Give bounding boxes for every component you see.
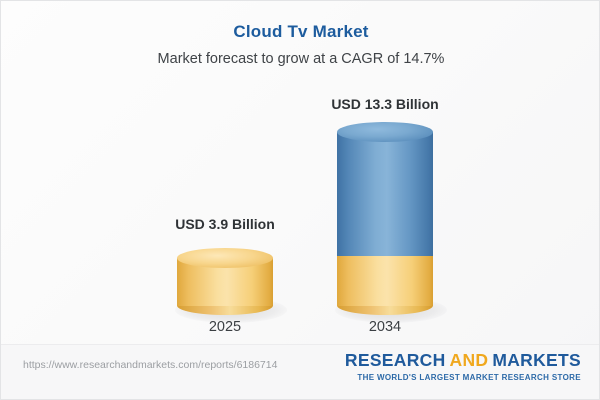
category-label-2034: 2034 <box>305 319 465 335</box>
logo-word-research: RESEARCH <box>345 350 446 370</box>
logo-wordmark: RESEARCHANDMARKETS <box>345 350 581 371</box>
value-label-2025: USD 3.9 Billion <box>127 216 323 232</box>
bar-2034-top-cap <box>337 122 433 142</box>
value-label-2034: USD 13.3 Billion <box>287 96 483 112</box>
logo-word-markets: MARKETS <box>492 350 581 370</box>
chart-subtitle: Market forecast to grow at a CAGR of 14.… <box>1 51 600 67</box>
bar-2034-body <box>337 132 433 256</box>
source-url[interactable]: https://www.researchandmarkets.com/repor… <box>23 359 277 371</box>
chart-title: Cloud Tv Market <box>1 22 600 42</box>
bar-2034-base-segment <box>337 256 433 306</box>
chart-canvas: Cloud Tv Market Market forecast to grow … <box>0 0 600 400</box>
logo-word-and: AND <box>446 350 493 370</box>
footer: https://www.researchandmarkets.com/repor… <box>1 344 599 399</box>
logo[interactable]: RESEARCHANDMARKETS THE WORLD'S LARGEST M… <box>345 350 581 382</box>
category-label-2025: 2025 <box>145 319 305 335</box>
bar-2025-top-cap <box>177 248 273 268</box>
logo-tagline: THE WORLD'S LARGEST MARKET RESEARCH STOR… <box>345 373 581 382</box>
